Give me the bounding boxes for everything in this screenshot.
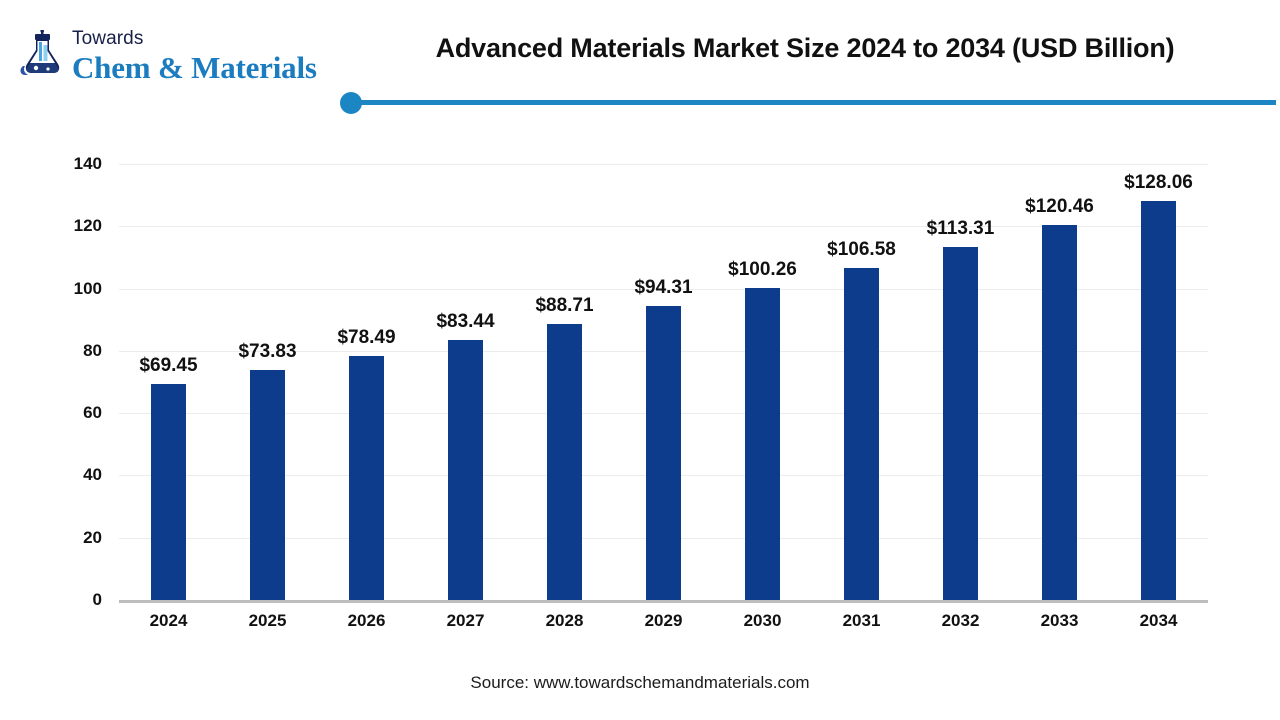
bar-group[interactable]: $120.462033 [1010,118,1109,600]
bar-group[interactable]: $113.312032 [911,118,1010,600]
brand-logo[interactable]: Towards Chem & Materials [18,28,348,90]
y-axis-tick: 40 [42,465,102,485]
bar-group[interactable]: $78.492026 [317,118,416,600]
bar[interactable] [349,356,384,600]
bar[interactable] [646,306,681,600]
bar-group[interactable]: $88.712028 [515,118,614,600]
y-axis-tick: 60 [42,403,102,423]
header-divider [352,100,1276,105]
brand-name-line1: Towards [72,28,348,50]
x-axis-tick: 2034 [1103,611,1214,631]
bar[interactable] [1042,225,1077,600]
bar-chart: 020406080100120140 $69.452024$73.832025$… [0,118,1280,720]
bar-group[interactable]: $94.312029 [614,118,713,600]
y-axis-tick: 100 [42,279,102,299]
bar-value-label: $69.45 [113,355,224,377]
y-axis-tick: 140 [42,154,102,174]
x-axis-tick: 2024 [113,611,224,631]
x-axis-tick: 2031 [806,611,917,631]
bar-group[interactable]: $106.582031 [812,118,911,600]
bar-group[interactable]: $69.452024 [119,118,218,600]
bar-value-label: $73.83 [212,341,323,363]
x-axis-tick: 2029 [608,611,719,631]
bar-value-label: $83.44 [410,311,521,333]
x-axis-tick: 2033 [1004,611,1115,631]
bar-group[interactable]: $83.442027 [416,118,515,600]
header-dot-marker [340,92,362,114]
bar[interactable] [745,288,780,600]
bar-value-label: $88.71 [509,295,620,317]
bar-value-label: $100.26 [707,259,818,281]
bar[interactable] [943,247,978,600]
bar-value-label: $120.46 [1004,196,1115,218]
y-axis-tick: 0 [42,590,102,610]
bar[interactable] [1141,201,1176,600]
chart-header: Towards Chem & Materials Advanced Materi… [0,0,1280,118]
x-axis-tick: 2032 [905,611,1016,631]
bar-group[interactable]: $128.062034 [1109,118,1208,600]
bar-value-label: $106.58 [806,239,917,261]
source-caption: Source: www.towardschemandmaterials.com [0,673,1280,693]
bar[interactable] [250,370,285,600]
page-title: Advanced Materials Market Size 2024 to 2… [360,33,1250,64]
bar-group[interactable]: $100.262030 [713,118,812,600]
bar[interactable] [547,324,582,600]
y-axis-tick: 20 [42,528,102,548]
flask-icon [18,30,68,84]
bar-value-label: $78.49 [311,327,422,349]
bar[interactable] [844,268,879,600]
bar-value-label: $113.31 [905,218,1016,240]
y-axis-tick: 120 [42,216,102,236]
y-axis: 020406080100120140 [40,118,102,720]
bar[interactable] [151,384,186,600]
y-axis-tick: 80 [42,341,102,361]
bar-group[interactable]: $73.832025 [218,118,317,600]
x-axis-tick: 2028 [509,611,620,631]
brand-name-line2: Chem & Materials [72,51,348,85]
x-axis-tick: 2026 [311,611,422,631]
x-axis-tick: 2027 [410,611,521,631]
x-axis-tick: 2030 [707,611,818,631]
bar[interactable] [448,340,483,600]
bar-value-label: $128.06 [1103,172,1214,194]
brand-logo-text: Towards Chem & Materials [72,28,348,85]
bar-value-label: $94.31 [608,277,719,299]
x-axis-tick: 2025 [212,611,323,631]
bars-layer: $69.452024$73.832025$78.492026$83.442027… [119,118,1208,720]
